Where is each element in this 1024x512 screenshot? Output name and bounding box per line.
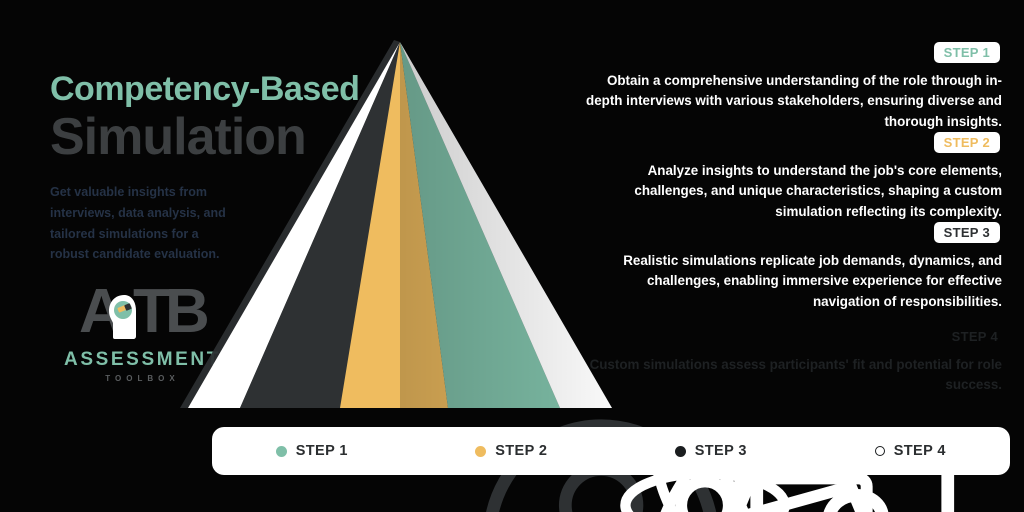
step-text-2: Analyze insights to understand the job's… xyxy=(584,161,1002,221)
legend-label-step-2: STEP 2 xyxy=(495,443,547,459)
legend-label-step-4: STEP 4 xyxy=(894,443,946,459)
step-text-4: Custom simulations assess participants' … xyxy=(584,355,1002,395)
legend-dot-hollow-icon xyxy=(875,446,885,456)
legend-label-step-1: STEP 1 xyxy=(296,443,348,459)
step-band-1: STEP 1 Obtain a comprehensive understand… xyxy=(264,42,1024,132)
step-badge-3: STEP 3 xyxy=(934,222,1000,243)
step-text-3: Realistic simulations replicate job dema… xyxy=(584,251,1002,311)
step-badge-4: STEP 4 xyxy=(950,326,1000,347)
legend-dot-yellow-icon xyxy=(475,446,486,457)
legend-item-step-1[interactable]: STEP 1 xyxy=(212,443,412,459)
legend-bar: STEP 1 STEP 2 STEP 3 STEP 4 xyxy=(212,427,1010,475)
legend-item-step-4[interactable]: STEP 4 xyxy=(811,443,1011,459)
head-profile-icon xyxy=(107,293,141,341)
step-band-2: STEP 2 Analyze insights to understand th… xyxy=(264,132,1024,222)
legend-dot-teal-icon xyxy=(276,446,287,457)
step-text-1: Obtain a comprehensive understanding of … xyxy=(584,71,1002,131)
step-badge-2: STEP 2 xyxy=(934,132,1000,153)
legend-dot-dark-icon xyxy=(675,446,686,457)
legend-label-step-3: STEP 3 xyxy=(695,443,747,459)
legend-item-step-3[interactable]: STEP 3 xyxy=(611,443,811,459)
step-band-4: STEP 4 Custom simulations assess partici… xyxy=(264,312,1024,409)
infographic-canvas: Competency-Based Simulation Get valuable… xyxy=(0,0,1024,512)
legend-item-step-2[interactable]: STEP 2 xyxy=(412,443,612,459)
step-band-3: STEP 3 Realistic simulations replicate j… xyxy=(264,222,1024,312)
step-badge-1: STEP 1 xyxy=(934,42,1000,63)
infographic-stage: Competency-Based Simulation Get valuable… xyxy=(0,0,1024,512)
